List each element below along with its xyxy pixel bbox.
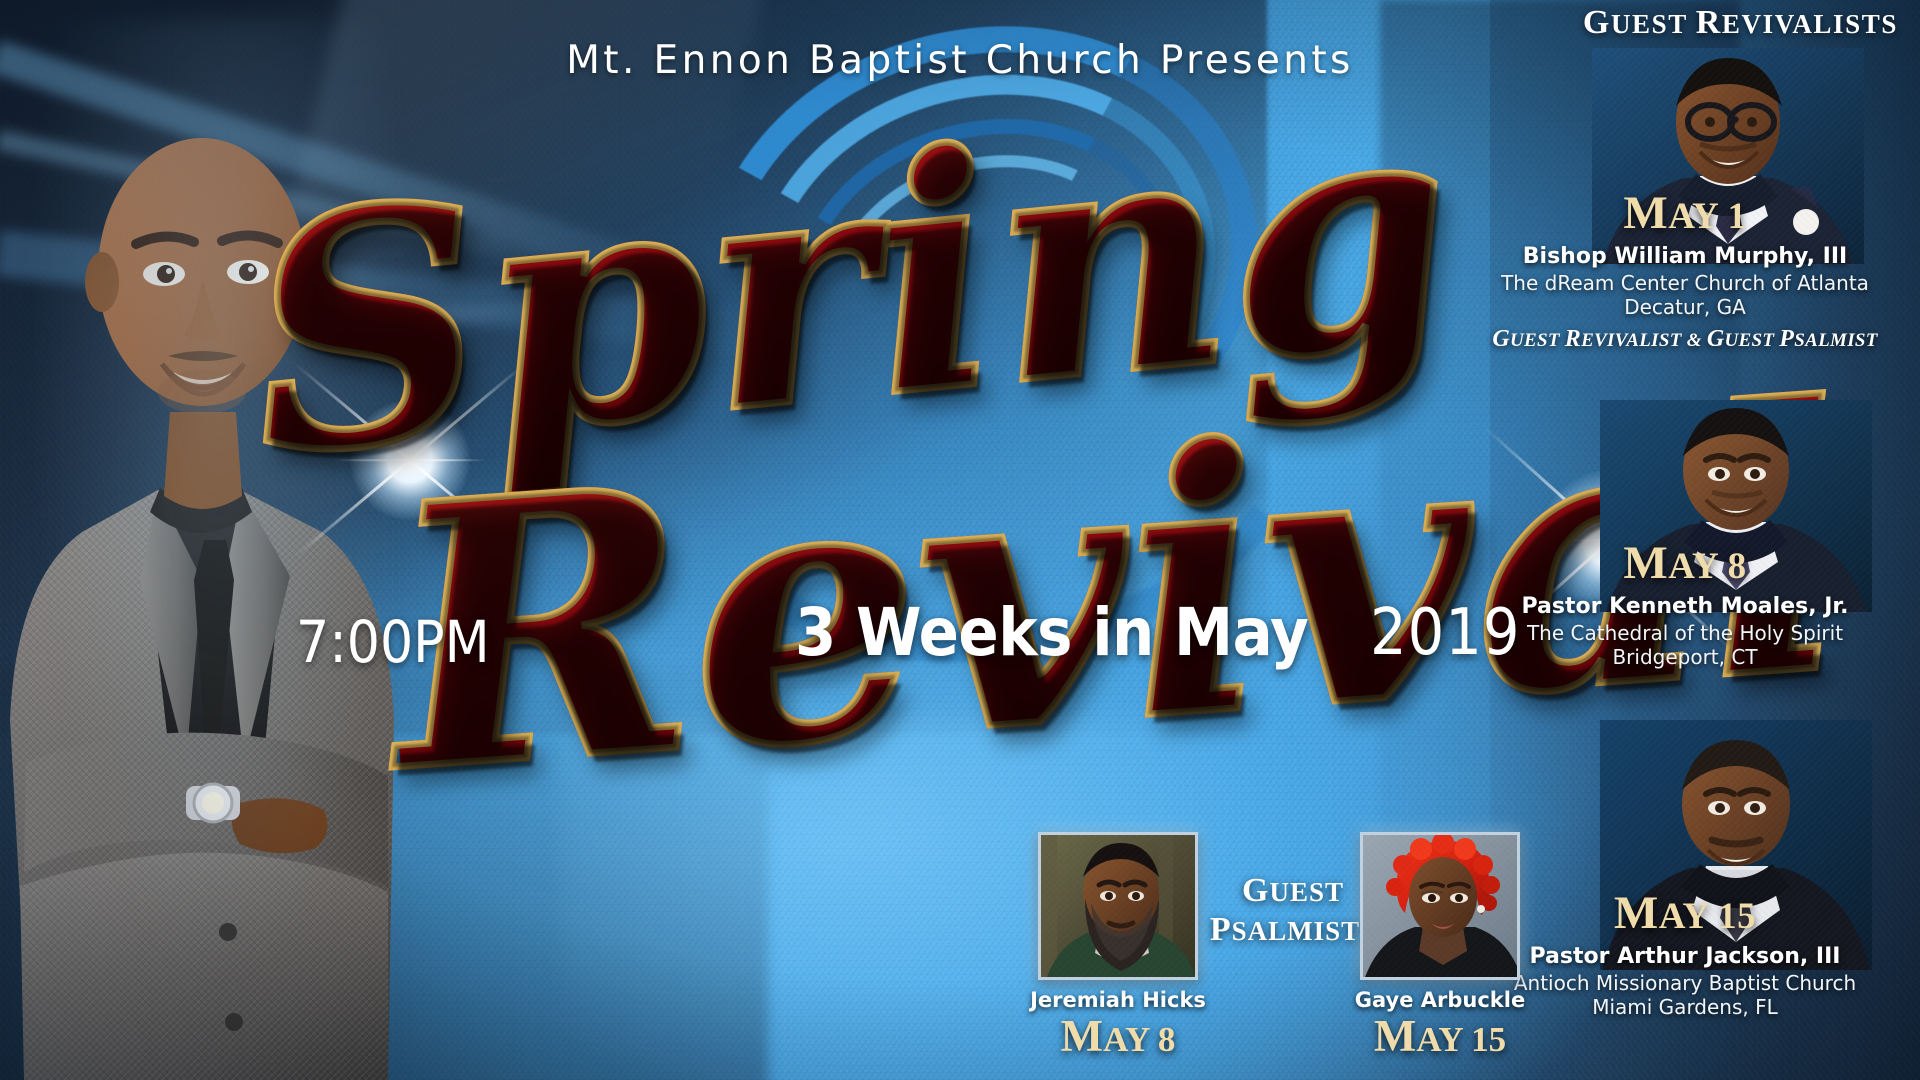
revivalist-1-date: MAY 1 [1450,190,1920,237]
psalmist-1: Jeremiah Hicks MAY 8 [1018,832,1218,1059]
revivalist-2-city: Bridgeport, CT [1450,645,1920,669]
psalmist-1-date: MAY 8 [1018,1014,1218,1059]
spring-revival-flyer: Mt. Ennon Baptist Church Presents Spring… [0,0,1920,1080]
revivalist-1-name: Bishop William Murphy, III [1450,244,1920,271]
revivalist-1-city: Decatur, GA [1450,295,1920,319]
event-duration: 3 Weeks in May [795,594,1308,671]
guest-revivalists-heading: GUEST REVIVALISTS [1583,4,1898,42]
event-time: 7:00PM [296,608,490,676]
gaye-arbuckle-portrait [1360,832,1520,980]
psalmist-1-name: Jeremiah Hicks [1018,988,1218,1012]
psalmist-2-date: MAY 15 [1340,1014,1540,1059]
revivalist-1-church: The dReam Center Church of Atlanta [1450,271,1920,295]
revivalist-2-name: Pastor Kenneth Moales, Jr. [1450,594,1920,621]
psalmist-2-name: Gaye Arbuckle [1340,988,1540,1012]
revivalist-2: MAY 8 Pastor Kenneth Moales, Jr. The Cat… [1450,540,1920,670]
jeremiah-hicks-portrait [1038,832,1198,980]
revivalist-1: MAY 1 Bishop William Murphy, III The dRe… [1450,190,1920,353]
psalmist-2: Gaye Arbuckle MAY 15 [1340,832,1540,1059]
revivalist-2-date: MAY 8 [1450,540,1920,587]
revivalist-2-church: The Cathedral of the Holy Spirit [1450,621,1920,645]
revivalist-1-role: GUEST REVIVALIST & GUEST PSALMIST [1450,326,1920,353]
